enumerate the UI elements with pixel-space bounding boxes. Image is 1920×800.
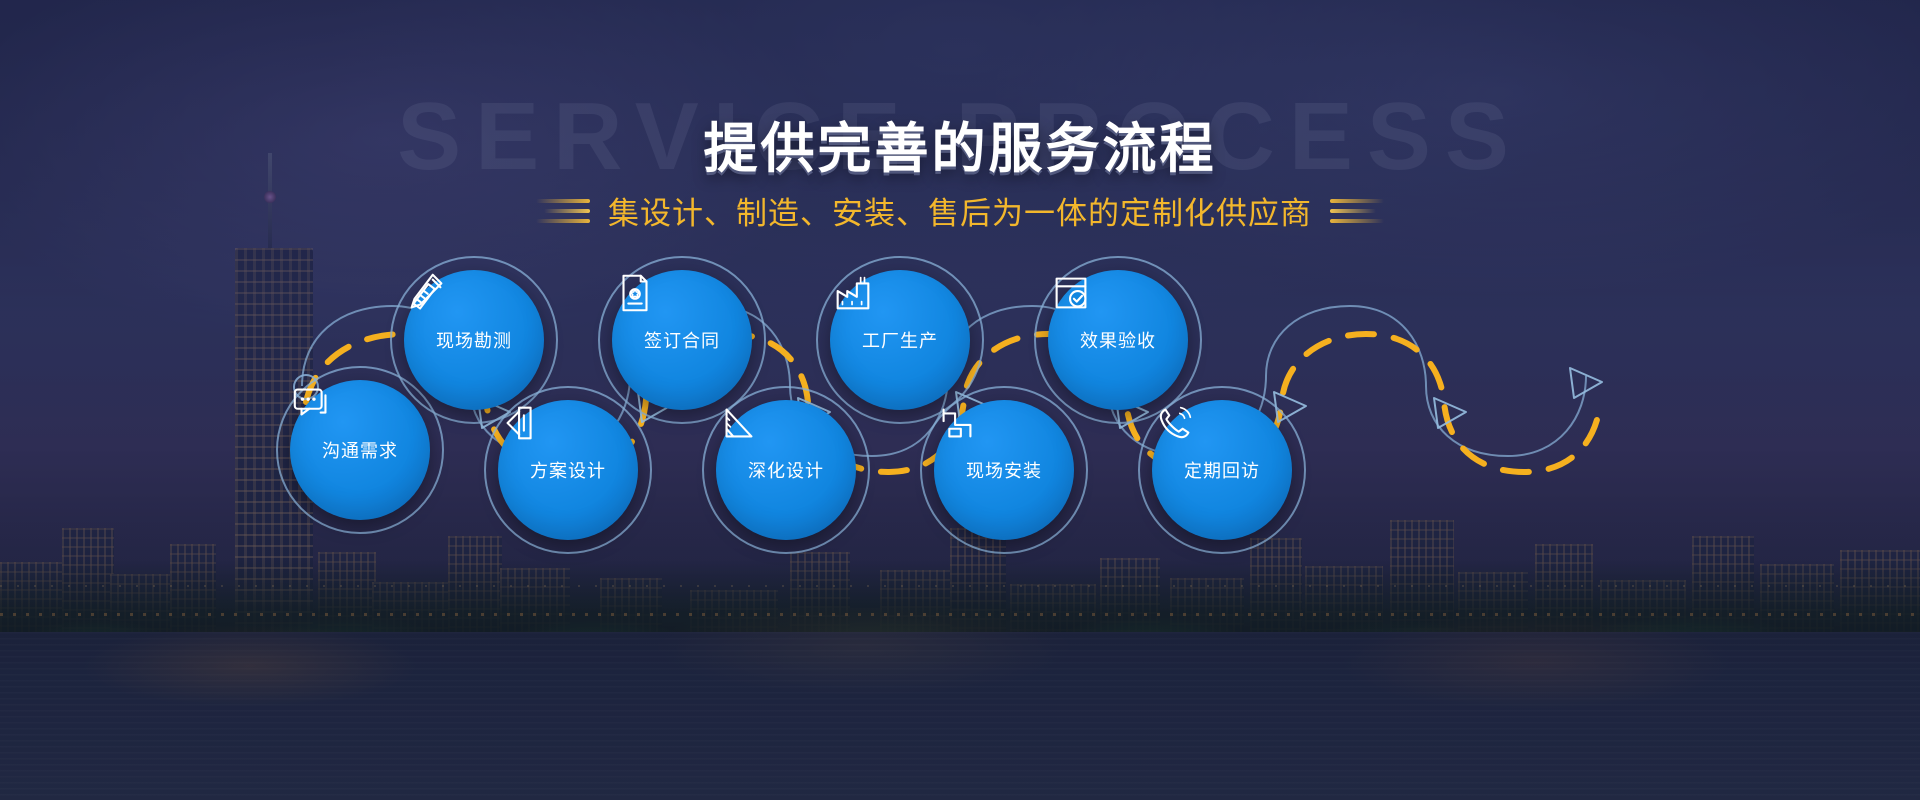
step-disc[interactable]: 效果验收 [1048,270,1188,410]
process-step-4[interactable]: 签订合同 [612,270,752,410]
checked-window-icon [1048,270,1094,316]
process-step-9[interactable]: 定期回访 [1152,400,1292,540]
process-step-5[interactable]: 深化设计 [716,400,856,540]
process-step-8[interactable]: 效果验收 [1048,270,1188,410]
process-step-2[interactable]: 现场勘测 [404,270,544,410]
contract-seal-icon [612,270,658,316]
step-disc[interactable]: 现场安装 [934,400,1074,540]
chat-bubble-icon [290,380,336,426]
step-label: 沟通需求 [322,437,398,463]
step-disc[interactable]: 现场勘测 [404,270,544,410]
step-label: 现场勘测 [436,327,512,353]
service-process-banner: SERVICE PROCESS 提供完善的服务流程 集设计、制造、安装、售后为一… [0,0,1920,800]
subtitle-left-lines-icon [528,199,590,223]
step-disc[interactable]: 工厂生产 [830,270,970,410]
ruler-pencil-icon [404,270,450,316]
subtitle-right-lines-icon [1330,199,1392,223]
step-disc[interactable]: 深化设计 [716,400,856,540]
step-label: 工厂生产 [862,327,938,353]
page-title: 提供完善的服务流程 [0,104,1920,183]
step-label: 深化设计 [748,457,824,483]
process-step-6[interactable]: 工厂生产 [830,270,970,410]
step-disc[interactable]: 签订合同 [612,270,752,410]
step-label: 方案设计 [530,457,606,483]
step-disc[interactable]: 定期回访 [1152,400,1292,540]
phone-call-icon [1152,400,1198,446]
factory-icon [830,270,876,316]
install-tool-icon [934,400,980,446]
step-disc[interactable]: 方案设计 [498,400,638,540]
process-flow: 沟通需求 现场勘测 [0,250,1920,540]
blueprint-icon [498,400,544,446]
step-label: 效果验收 [1080,327,1156,353]
step-label: 签订合同 [644,327,720,353]
subtitle-row: 集设计、制造、安装、售后为一体的定制化供应商 [0,188,1920,233]
step-label: 定期回访 [1184,457,1260,483]
process-step-7[interactable]: 现场安装 [934,400,1074,540]
process-step-3[interactable]: 方案设计 [498,400,638,540]
set-square-icon [716,400,762,446]
step-label: 现场安装 [966,457,1042,483]
page-subtitle: 集设计、制造、安装、售后为一体的定制化供应商 [608,188,1312,233]
